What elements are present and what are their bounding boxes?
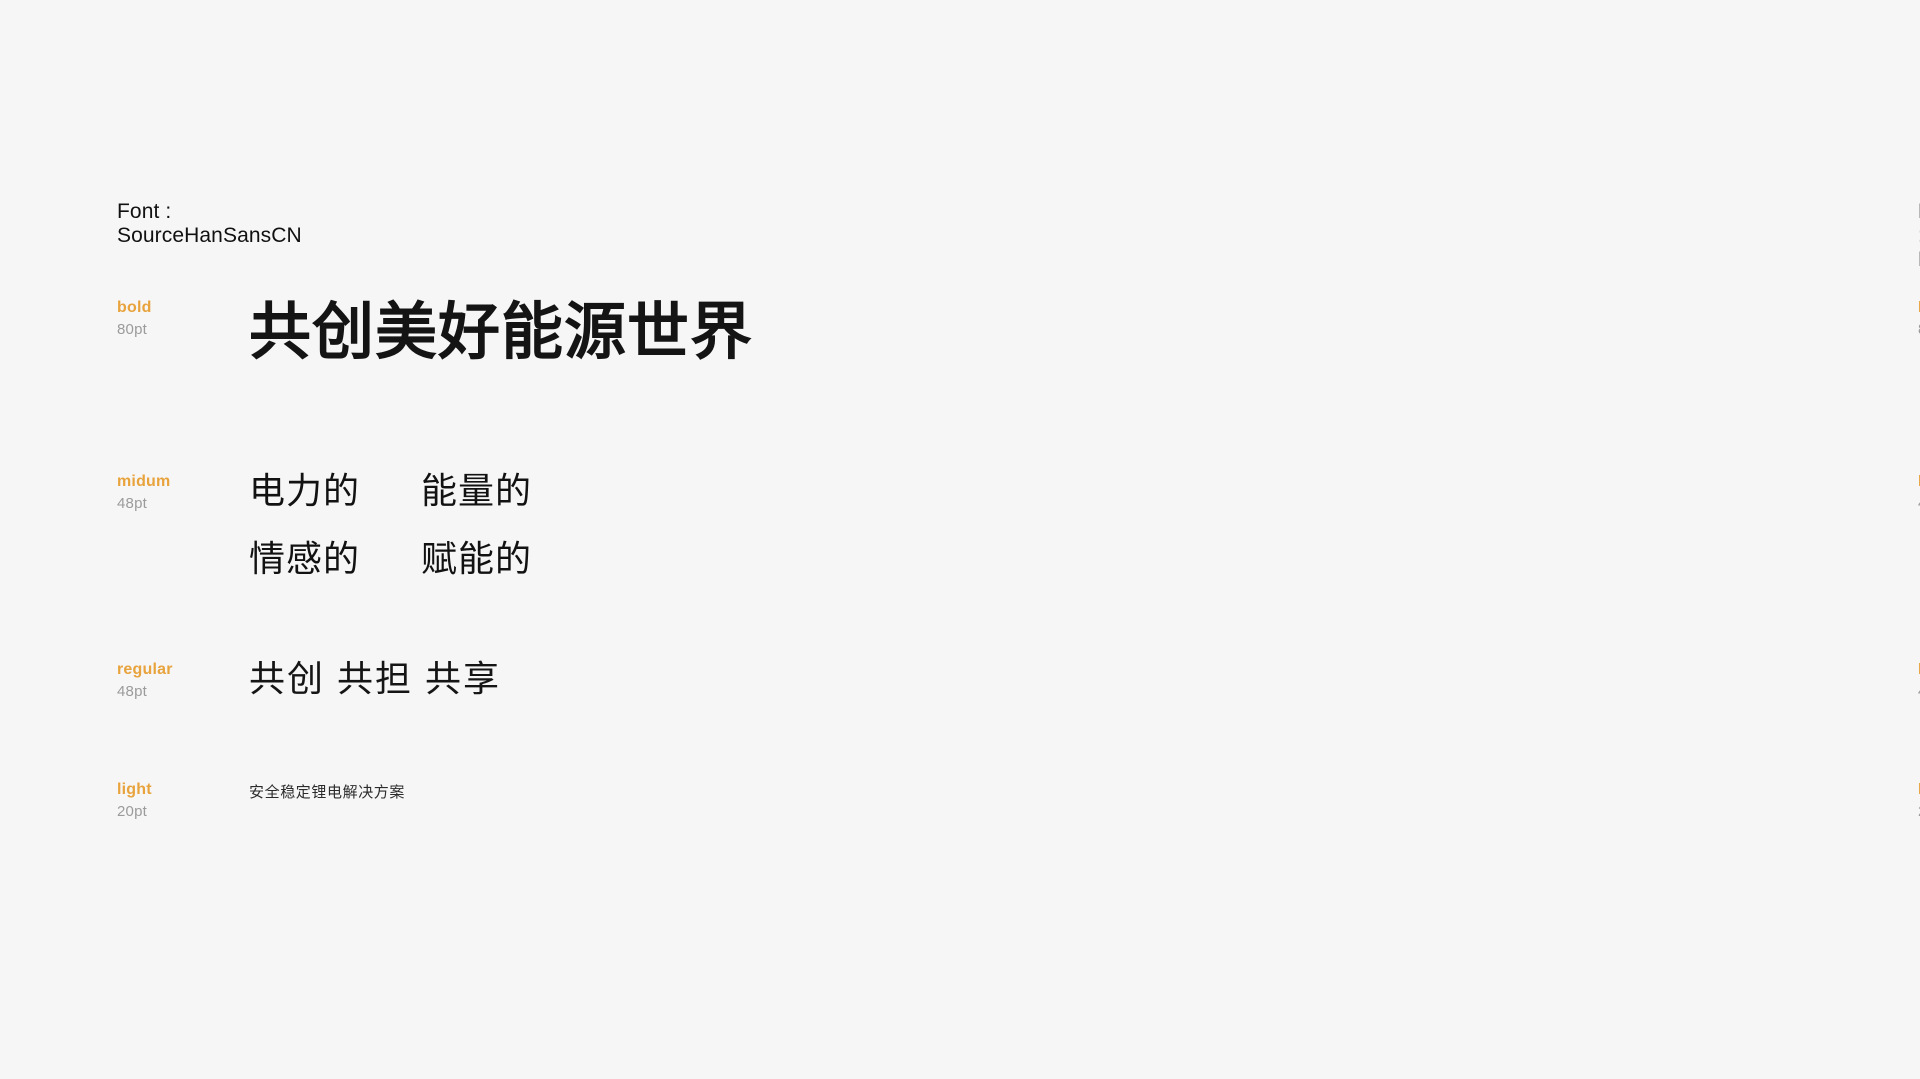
weight-name-label: light bbox=[117, 780, 249, 799]
specimen-row-regular-chinese: regular 48pt 共创 共担 共享 bbox=[117, 658, 501, 701]
weight-label-block: regular 48pt bbox=[117, 658, 249, 701]
sample-text-regular: 共创 共担 共享 bbox=[249, 658, 501, 700]
sample-word: 情感的 bbox=[249, 538, 421, 580]
point-size-label: 48pt bbox=[117, 494, 249, 513]
sample-block: 共创 共担 共享 bbox=[249, 658, 501, 700]
weight-name-label: midum bbox=[117, 472, 249, 491]
point-size-label: 80pt bbox=[117, 320, 249, 339]
font-name-heading-chinese: Font : SourceHanSansCN bbox=[117, 200, 302, 248]
point-size-label: 20pt bbox=[117, 802, 249, 821]
specimen-row-light-chinese: light 20pt 安全稳定锂电解决方案 bbox=[117, 778, 405, 821]
sample-block: 共创美好能源世界 bbox=[249, 296, 753, 370]
weight-label-block: bold 80pt bbox=[117, 296, 249, 339]
specimen-row-bold-chinese: bold 80pt 共创美好能源世界 bbox=[117, 296, 753, 370]
sample-text-light: 安全稳定锂电解决方案 bbox=[249, 778, 405, 804]
weight-name-label: regular bbox=[117, 660, 249, 679]
sample-word: 能量的 bbox=[421, 470, 532, 512]
sample-word-grid: 电力的 能量的 情感的 赋能的 bbox=[249, 470, 532, 580]
sample-block: 安全稳定锂电解决方案 bbox=[249, 778, 405, 804]
typography-specimen-sheet: Font : SourceHanSansCN bold 80pt 共创美好能源世… bbox=[0, 0, 1920, 1079]
sample-text-headline: 共创美好能源世界 bbox=[249, 296, 753, 370]
weight-label-block: midum 48pt bbox=[117, 470, 249, 513]
weight-label-block: light 20pt bbox=[117, 778, 249, 821]
sample-word: 电力的 bbox=[249, 470, 421, 512]
point-size-label: 48pt bbox=[117, 682, 249, 701]
specimen-column-chinese: Font : SourceHanSansCN bold 80pt 共创美好能源世… bbox=[0, 0, 960, 1079]
sample-block: 电力的 能量的 情感的 赋能的 bbox=[249, 470, 532, 580]
weight-name-label: bold bbox=[117, 298, 249, 317]
specimen-row-medium-chinese: midum 48pt 电力的 能量的 情感的 赋能的 bbox=[117, 470, 532, 580]
sample-word: 赋能的 bbox=[421, 538, 532, 580]
specimen-column-latin: Font : Rany Bold 80pt Creating the world… bbox=[960, 0, 1920, 1079]
